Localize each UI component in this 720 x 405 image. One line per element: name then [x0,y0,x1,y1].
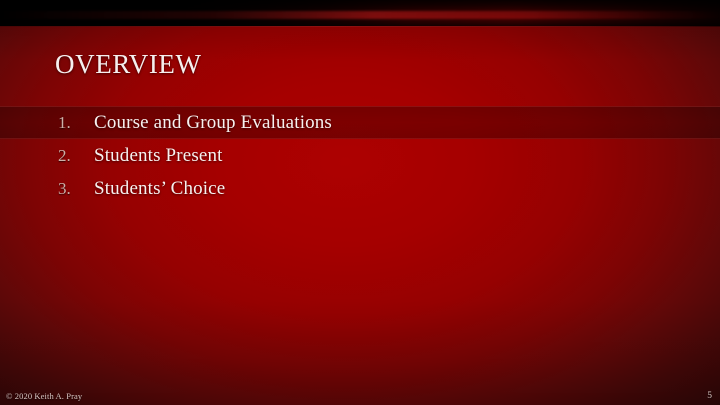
agenda-item-3[interactable]: 3. Students’ Choice [0,172,720,205]
agenda-list: 1. Course and Group Evaluations 2. Stude… [0,106,720,205]
agenda-item-label: Course and Group Evaluations [94,112,332,134]
footer-copyright: © 2020 Keith A. Pray [6,391,82,402]
agenda-item-label: Students’ Choice [94,178,225,200]
slide-header-bar [0,0,720,27]
agenda-item-2[interactable]: 2. Students Present [0,139,720,172]
agenda-item-1[interactable]: 1. Course and Group Evaluations [0,106,720,139]
header-bar-underline [0,26,720,27]
agenda-item-number: 3. [58,179,94,199]
footer-page-number: 5 [707,391,712,402]
agenda-item-number: 1. [58,113,94,133]
agenda-item-number: 2. [58,146,94,166]
header-bar-sheen [0,11,720,19]
slide-canvas: CS 3043 Social Implications Of Computing… [0,0,720,405]
slide-title: OVERVIEW [55,48,202,80]
agenda-item-label: Students Present [94,145,223,167]
